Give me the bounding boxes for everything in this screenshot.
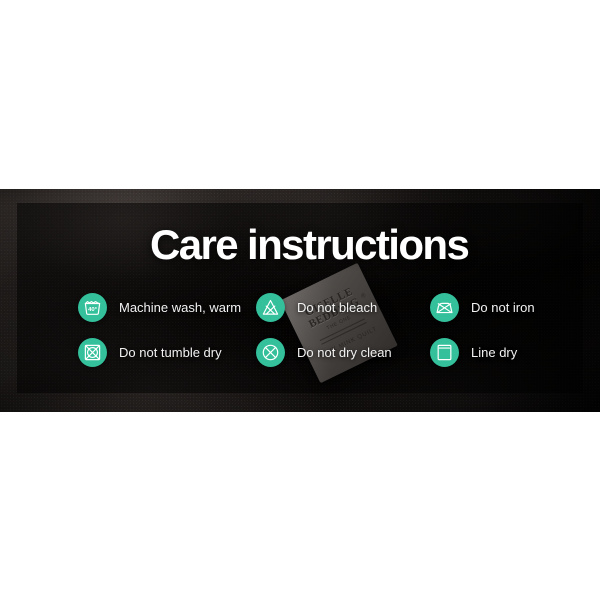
care-item-machine-wash-warm: 40° Machine wash, warm — [78, 293, 256, 322]
no-tumble-dry-icon — [78, 338, 107, 367]
washtub-40c-icon: 40° — [78, 293, 107, 322]
care-item-do-not-bleach: Do not bleach — [256, 293, 430, 322]
line-dry-icon — [430, 338, 459, 367]
no-bleach-triangle-icon — [256, 293, 285, 322]
care-item-label: Do not dry clean — [297, 345, 392, 360]
care-item-line-dry: Line dry — [430, 338, 570, 367]
care-item-label: Do not bleach — [297, 300, 377, 315]
svg-text:40°: 40° — [88, 307, 98, 313]
care-row-2: Do not tumble dry Do not dry clean — [78, 330, 578, 375]
page-title: Care instructions — [150, 222, 468, 268]
care-instruction-grid: 40° Machine wash, warm Do not bleach — [78, 285, 578, 375]
care-item-do-not-iron: Do not iron — [430, 293, 570, 322]
care-item-label: Do not iron — [471, 300, 535, 315]
care-item-label: Line dry — [471, 345, 517, 360]
no-iron-icon — [430, 293, 459, 322]
care-item-label: Machine wash, warm — [119, 300, 241, 315]
care-item-do-not-tumble-dry: Do not tumble dry — [78, 338, 256, 367]
care-row-1: 40° Machine wash, warm Do not bleach — [78, 285, 578, 330]
care-item-do-not-dry-clean: Do not dry clean — [256, 338, 430, 367]
product-photo-banner: GISELLE BEDDING ® THE ONE FAUX MINK QUIL… — [0, 189, 600, 412]
care-instructions-banner-page: GISELLE BEDDING ® THE ONE FAUX MINK QUIL… — [0, 0, 600, 600]
no-dry-clean-icon — [256, 338, 285, 367]
care-item-label: Do not tumble dry — [119, 345, 222, 360]
